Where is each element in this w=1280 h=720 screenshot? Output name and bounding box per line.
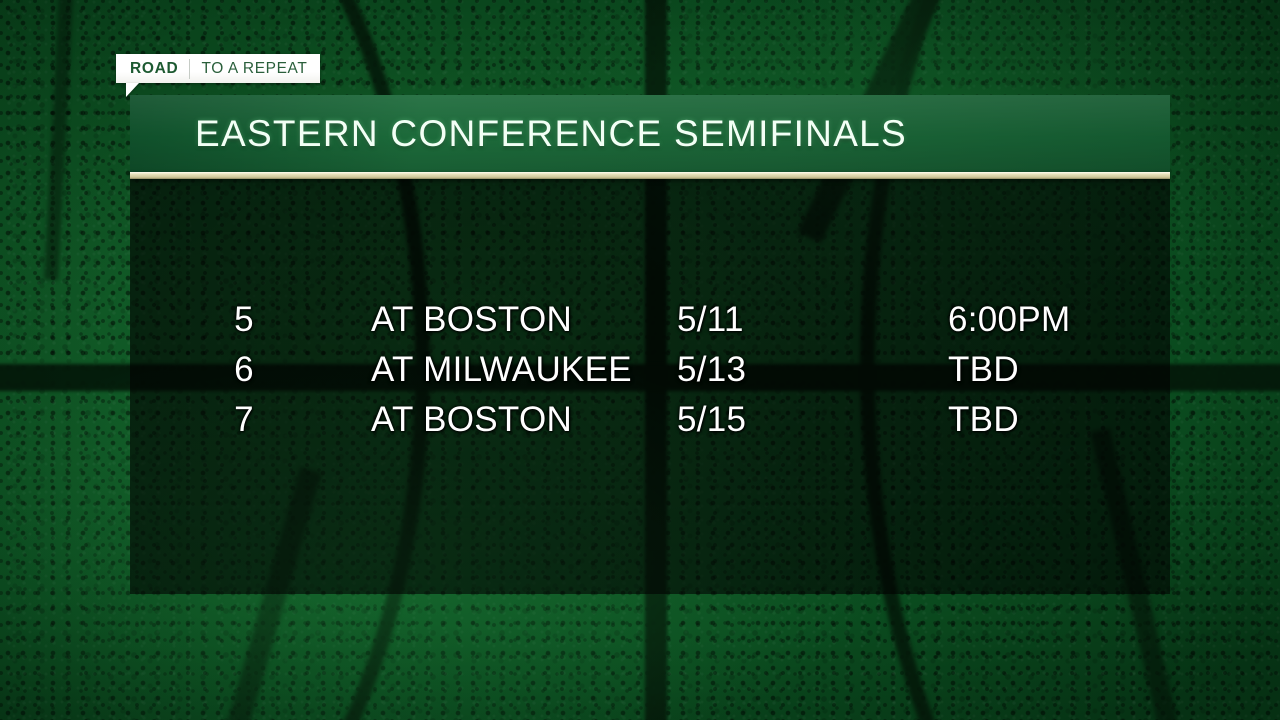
table-row: 6 AT MILWAUKEE 5/13 TBD bbox=[130, 345, 1170, 395]
branding-tab-brand-label: ROAD bbox=[130, 60, 178, 78]
title-bar: EASTERN CONFERENCE SEMIFINALS bbox=[130, 95, 1170, 172]
row-time: 6:00PM bbox=[948, 300, 1070, 340]
broadcast-graphic: EASTERN CONFERENCE SEMIFINALS ROAD TO A … bbox=[0, 0, 1280, 720]
branding-tab: ROAD TO A REPEAT bbox=[116, 54, 320, 83]
row-game-number: 7 bbox=[214, 400, 274, 440]
row-date: 5/15 bbox=[677, 400, 746, 440]
branding-tab-divider bbox=[189, 59, 190, 79]
row-matchup: AT BOSTON bbox=[371, 300, 572, 340]
row-matchup: AT MILWAUKEE bbox=[371, 350, 632, 390]
branding-tab-body: ROAD TO A REPEAT bbox=[116, 54, 320, 83]
table-row: 7 AT BOSTON 5/15 TBD bbox=[130, 395, 1170, 445]
table-row: 5 AT BOSTON 5/11 6:00PM bbox=[130, 295, 1170, 345]
branding-tab-pointer bbox=[126, 83, 139, 97]
row-game-number: 5 bbox=[214, 300, 274, 340]
title-divider-rule bbox=[130, 172, 1170, 179]
page-title: EASTERN CONFERENCE SEMIFINALS bbox=[195, 113, 907, 155]
branding-tab-sub-label: TO A REPEAT bbox=[201, 60, 307, 78]
schedule-list: 5 AT BOSTON 5/11 6:00PM 6 AT MILWAUKEE 5… bbox=[130, 295, 1170, 445]
row-matchup: AT BOSTON bbox=[371, 400, 572, 440]
row-game-number: 6 bbox=[214, 350, 274, 390]
row-date: 5/13 bbox=[677, 350, 746, 390]
row-time: TBD bbox=[948, 350, 1019, 390]
row-date: 5/11 bbox=[677, 300, 744, 340]
row-time: TBD bbox=[948, 400, 1019, 440]
